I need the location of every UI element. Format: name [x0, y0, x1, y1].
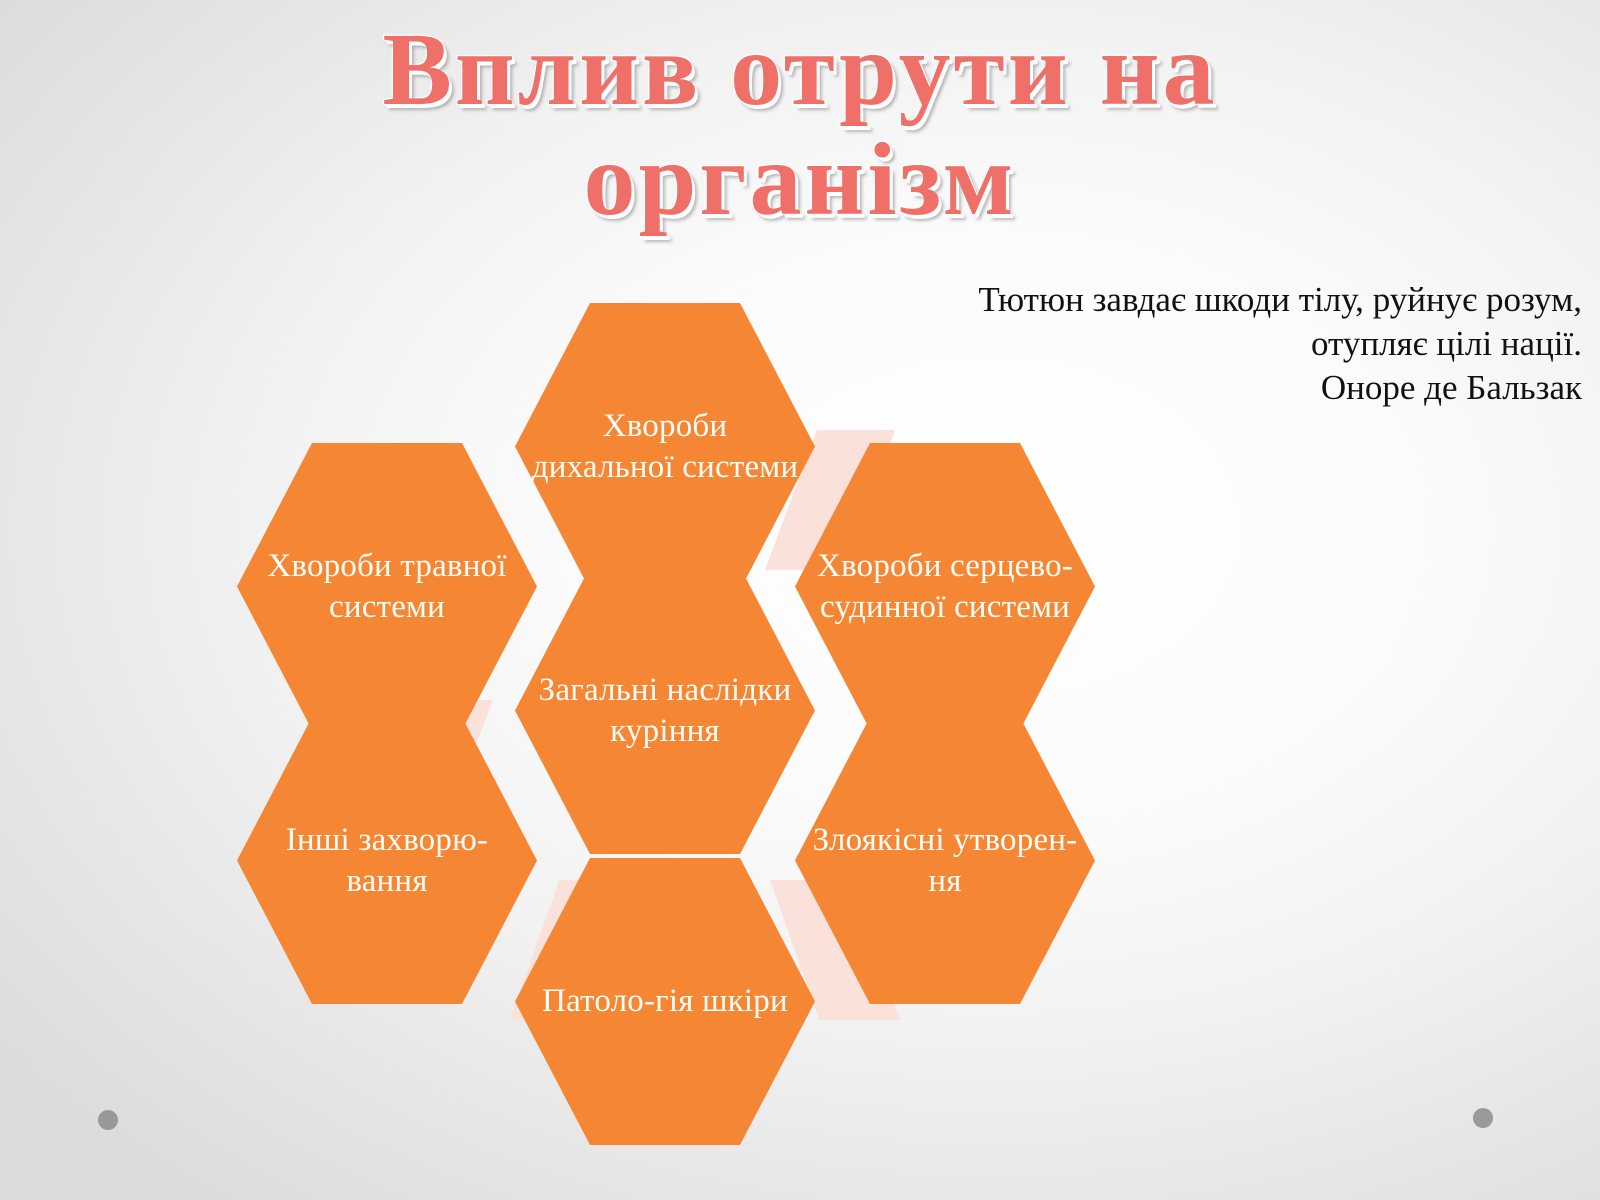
title-line-2: організм — [150, 128, 1450, 232]
hex-other[interactable]: Інші захворю-вання — [237, 717, 537, 1004]
hex-label-malignant: Злоякісні утворен-ня — [795, 820, 1095, 901]
hex-digestive[interactable]: Хвороби травної системи — [237, 443, 537, 730]
hex-general-consequences[interactable]: Загальні наслідки куріння — [515, 567, 815, 854]
hex-label-respiratory: Хвороби дихальної системи — [515, 406, 815, 487]
hex-label-digestive: Хвороби травної системи — [237, 546, 537, 627]
title-line-1: Вплив отрути на — [150, 18, 1450, 122]
decorative-dot-right — [1473, 1108, 1493, 1128]
hex-label-other: Інші захворю-вання — [237, 820, 537, 901]
hex-label-skin: Патоло-гія шкіри — [528, 981, 802, 1021]
slide-canvas: Вплив отрути на організм Тютюн завдає шк… — [0, 0, 1600, 1200]
slide-title: Вплив отрути на організм — [150, 18, 1450, 232]
hex-label-general-consequences: Загальні наслідки куріння — [515, 670, 815, 751]
honeycomb-diagram: Загальні наслідки куріння Хвороби дихаль… — [265, 295, 1095, 1125]
hex-respiratory[interactable]: Хвороби дихальної системи — [515, 303, 815, 590]
decorative-dot-left — [98, 1110, 118, 1130]
hex-label-cardiovascular: Хвороби серцево-судинної системи — [795, 546, 1095, 627]
